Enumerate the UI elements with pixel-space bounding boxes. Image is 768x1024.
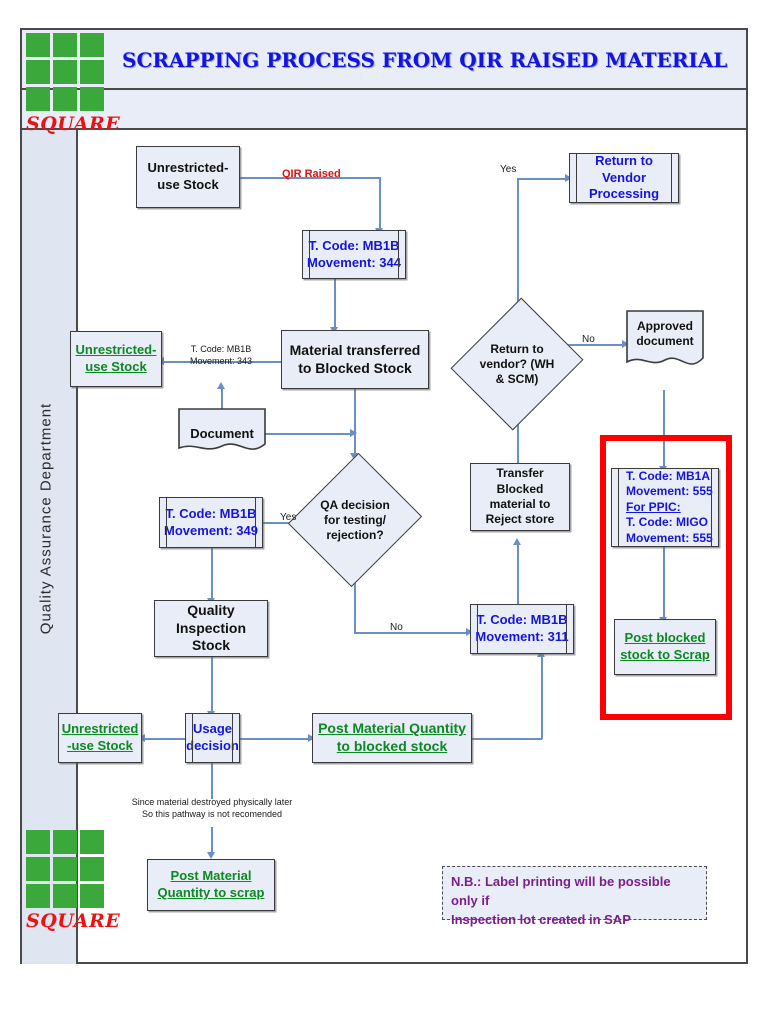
- nb-note-line1: N.B.: Label printing will be possible on…: [451, 873, 698, 911]
- node-label-line5: Movement: 555: [626, 531, 713, 546]
- node-unrestricted-use-stock-top[interactable]: Unrestricted-use Stock: [136, 146, 240, 208]
- connector-line: [354, 389, 356, 455]
- logo-cell: [26, 830, 50, 854]
- node-label: Document: [190, 408, 254, 442]
- node-label-line2: Movement: 311: [475, 629, 568, 646]
- node-return-to-vendor-decision[interactable]: Return to vendor? (WH & SCM): [473, 314, 561, 414]
- logo-wordmark: SQUARE: [26, 910, 108, 932]
- node-scrap-tcodes[interactable]: T. Code: MB1A Movement: 555 For PPIC: T.…: [611, 468, 719, 547]
- logo-cell: [53, 830, 77, 854]
- edge-label-vendor-yes: Yes: [500, 164, 516, 175]
- connector-line: [517, 178, 519, 314]
- node-label: Return to vendor? (WH & SCM): [473, 342, 561, 387]
- node-label: Material transferred to Blocked Stock: [286, 342, 424, 378]
- node-label: Transfer Blocked material to Reject stor…: [475, 466, 565, 527]
- node-label-line1: T. Code: MB1B: [477, 612, 568, 629]
- node-label-line4: T. Code: MIGO: [626, 515, 708, 530]
- note-line1: Since material destroyed physically late…: [121, 796, 303, 808]
- subtitle-band: [22, 90, 746, 130]
- logo-cell: [53, 33, 77, 57]
- connector-line: [472, 738, 542, 740]
- connector-line: [379, 177, 381, 230]
- connector-arrow: [350, 429, 357, 437]
- node-label: Post Material Quantity to blocked stock: [317, 720, 467, 756]
- flowchart-page: SCRAPPING PROCESS FROM QIR RAISED MATERI…: [0, 0, 768, 1024]
- logo-cell: [26, 884, 50, 908]
- node-label-line3: For PPIC:: [626, 500, 681, 515]
- node-label: Usage decision: [186, 721, 239, 754]
- node-return-to-vendor-processing[interactable]: Return to Vendor Processing: [569, 153, 679, 203]
- node-label: Quality Inspection Stock: [159, 602, 263, 656]
- connector-line: [517, 178, 569, 180]
- logo-cell: [80, 857, 104, 881]
- logo-cell: [53, 857, 77, 881]
- note-line2: So this pathway is not recomended: [121, 808, 303, 820]
- logo-cell: [80, 884, 104, 908]
- connector-line: [240, 738, 312, 740]
- connector-line: [354, 632, 470, 634]
- edge-label-vendor-no: No: [582, 334, 595, 345]
- node-transfer-blocked-material[interactable]: Transfer Blocked material to Reject stor…: [470, 463, 570, 531]
- node-post-blocked-stock-to-scrap[interactable]: Post blocked stock to Scrap: [614, 619, 716, 675]
- node-label-line1: T. Code: MB1B: [309, 238, 400, 255]
- logo-cell: [80, 33, 104, 57]
- logo-cell: [26, 857, 50, 881]
- logo-cell: [80, 830, 104, 854]
- connector-line: [211, 657, 213, 713]
- nb-note: N.B.: Label printing will be possible on…: [442, 866, 707, 920]
- node-label-line2: Movement: 344: [307, 255, 401, 272]
- edge-label-qa-no: No: [390, 622, 403, 633]
- logo-cell: [53, 60, 77, 84]
- node-usage-decision[interactable]: Usage decision: [185, 713, 240, 763]
- connector-line: [142, 738, 186, 740]
- edge-label-line2: Movement: 343: [179, 355, 263, 367]
- logo-grid: [26, 33, 108, 111]
- logo-cell: [26, 87, 50, 111]
- logo-cell: [53, 87, 77, 111]
- edge-label-qir-raised: QIR Raised: [282, 168, 341, 180]
- connector-arrow: [513, 538, 521, 545]
- node-tcode-mb1b-349[interactable]: T. Code: MB1B Movement: 349: [159, 497, 263, 548]
- edge-label-tcode-343: T. Code: MB1B Movement: 343: [179, 343, 263, 367]
- node-post-material-qty-blocked-stock[interactable]: Post Material Quantity to blocked stock: [312, 713, 472, 763]
- node-material-transferred-blocked-stock[interactable]: Material transferred to Blocked Stock: [281, 330, 429, 389]
- nb-note-line2: Inspection lot created in SAP: [451, 911, 698, 930]
- connector-line: [264, 433, 356, 435]
- edge-label-qa-yes: Yes: [280, 512, 296, 523]
- edge-label-line1: T. Code: MB1B: [179, 343, 263, 355]
- node-label: Post blocked stock to Scrap: [619, 630, 711, 663]
- node-unrestricted-use-stock-mid[interactable]: Unrestricted-use Stock: [70, 331, 162, 387]
- node-label-line1: T. Code: MB1B: [166, 506, 257, 523]
- node-label: QA decision for testing/ rejection?: [310, 498, 400, 543]
- logo-cell: [80, 60, 104, 84]
- node-qa-decision[interactable]: QA decision for testing/ rejection?: [310, 470, 400, 570]
- node-label: Unrestricted -use Stock: [62, 721, 139, 754]
- usage-pathway-note: Since material destroyed physically late…: [121, 796, 303, 820]
- node-tcode-mb1b-344[interactable]: T. Code: MB1B Movement: 344: [302, 230, 406, 279]
- node-label-line2: Movement: 555: [626, 484, 713, 499]
- node-approved-document[interactable]: Approved document: [626, 310, 704, 372]
- node-quality-inspection-stock[interactable]: Quality Inspection Stock: [154, 600, 268, 657]
- page-title: SCRAPPING PROCESS FROM QIR RAISED MATERI…: [122, 30, 722, 90]
- node-label: Unrestricted-use Stock: [141, 160, 235, 193]
- node-unrestricted-use-stock-bottom[interactable]: Unrestricted -use Stock: [58, 713, 142, 763]
- node-label-line2: Movement: 349: [164, 523, 258, 540]
- connector-line: [334, 279, 336, 329]
- node-label: Post Material Quantity to scrap: [152, 868, 270, 901]
- node-post-material-qty-scrap[interactable]: Post Material Quantity to scrap: [147, 859, 275, 911]
- connector-line: [541, 654, 543, 739]
- logo-cell: [80, 87, 104, 111]
- node-label: Approved document: [626, 310, 704, 349]
- connector-arrow: [207, 852, 215, 859]
- logo-grid: [26, 830, 108, 908]
- logo-cell: [53, 884, 77, 908]
- department-label: Quality Assurance Department: [38, 169, 55, 869]
- logo-cell: [26, 60, 50, 84]
- connector-line: [211, 763, 213, 799]
- node-label: Return to Vendor Processing: [574, 153, 674, 203]
- node-label-line1: T. Code: MB1A: [626, 469, 710, 484]
- logo-cell: [26, 33, 50, 57]
- square-logo-bottom: SQUARE: [26, 830, 108, 932]
- square-logo-top: SQUARE: [26, 33, 108, 135]
- connector-arrow: [217, 382, 225, 389]
- node-label: Unrestricted-use Stock: [75, 342, 157, 375]
- logo-wordmark: SQUARE: [26, 113, 108, 135]
- connector-line: [211, 827, 213, 855]
- node-document[interactable]: Document: [178, 408, 266, 454]
- connector-line: [211, 548, 213, 600]
- document-frame: SCRAPPING PROCESS FROM QIR RAISED MATERI…: [20, 28, 748, 964]
- node-tcode-mb1b-311[interactable]: T. Code: MB1B Movement: 311: [470, 604, 574, 654]
